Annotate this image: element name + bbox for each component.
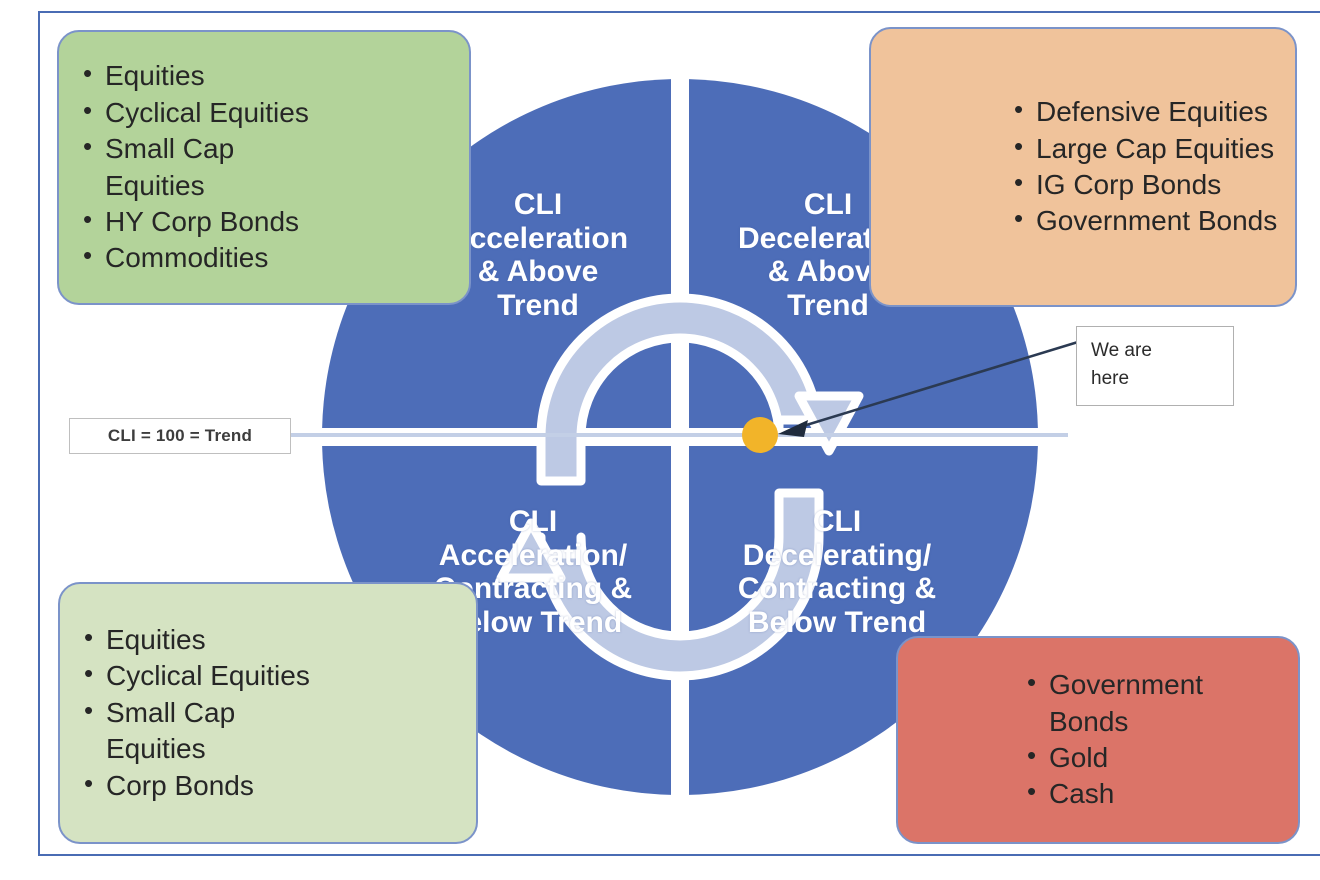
list-item: Corp Bonds — [82, 768, 476, 804]
callout-line-2: here — [1091, 365, 1233, 393]
list-item: Cash — [1025, 776, 1298, 812]
list-item: Cyclical Equities — [82, 658, 476, 694]
list-item: Government Bonds — [1025, 667, 1298, 740]
list-item: IG Corp Bonds — [1012, 167, 1295, 203]
list-item: Gold — [1025, 740, 1298, 776]
asset-box-top-right: Defensive Equities Large Cap Equities IG… — [869, 27, 1297, 307]
diagram-canvas: CLI Acceleration & Above Trend CLI Decel… — [0, 0, 1320, 880]
quadrant-label-bottom-right: CLI Decelerating/ Contracting & Below Tr… — [692, 505, 982, 639]
list-item: HY Corp Bonds — [81, 204, 469, 240]
list-item: Commodities — [81, 240, 469, 276]
asset-box-top-left: Equities Cyclical Equities Small Cap Equ… — [57, 30, 471, 305]
we-are-here-callout: We are here — [1076, 326, 1234, 406]
list-item: Small Cap Equities — [82, 695, 476, 768]
list-item: Cyclical Equities — [81, 95, 469, 131]
list-item: Government Bonds — [1012, 203, 1295, 239]
callout-line-1: We are — [1091, 337, 1233, 365]
asset-box-bottom-left: Equities Cyclical Equities Small Cap Equ… — [58, 582, 478, 844]
asset-list-top-left: Equities Cyclical Equities Small Cap Equ… — [59, 58, 469, 276]
asset-box-bottom-right: Government Bonds Gold Cash — [896, 636, 1300, 844]
list-item: Equities — [81, 58, 469, 94]
list-item: Defensive Equities — [1012, 94, 1295, 130]
current-position-marker — [742, 417, 778, 453]
list-item: Small Cap Equities — [81, 131, 469, 204]
asset-list-bottom-left: Equities Cyclical Equities Small Cap Equ… — [60, 622, 476, 804]
trend-line-label: CLI = 100 = Trend — [69, 418, 291, 454]
list-item: Equities — [82, 622, 476, 658]
list-item: Large Cap Equities — [1012, 131, 1295, 167]
asset-list-bottom-right: Government Bonds Gold Cash — [898, 667, 1298, 813]
asset-list-top-right: Defensive Equities Large Cap Equities IG… — [871, 94, 1295, 240]
